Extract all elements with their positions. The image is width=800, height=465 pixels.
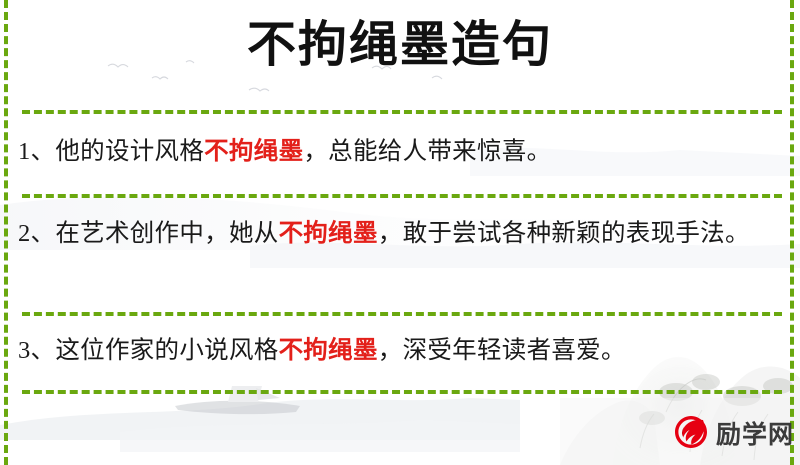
- sentence-text-after-2: ，敢于尝试各种新颖的表现手法。: [378, 220, 750, 247]
- sentence-item-3: 3、这位作家的小说风格不拘绳墨，深受年轻读者喜爱。: [18, 330, 784, 371]
- highlight-term-2: 不拘绳墨: [279, 220, 378, 247]
- divider-top: [22, 110, 782, 114]
- divider-bottom: [22, 390, 782, 394]
- watermark-brand-text: 励学网: [716, 415, 794, 451]
- page-title: 不拘绳墨造句: [0, 16, 800, 74]
- sentence-text-after-3: ，深受年轻读者喜爱。: [378, 337, 626, 364]
- sentence-number-1: 1、: [18, 138, 55, 165]
- watermark-logo: 励学网: [672, 414, 794, 452]
- highlight-term-1: 不拘绳墨: [204, 138, 303, 165]
- divider-between-1-2: [22, 194, 782, 198]
- sentence-item-2: 2、在艺术创作中，她从不拘绳墨，敢于尝试各种新颖的表现手法。: [18, 213, 784, 254]
- slide-page: 不拘绳墨造句 1、他的设计风格不拘绳墨，总能给人带来惊喜。 2、在艺术创作中，她…: [0, 0, 800, 465]
- sentence-item-1: 1、他的设计风格不拘绳墨，总能给人带来惊喜。: [18, 131, 784, 172]
- highlight-term-3: 不拘绳墨: [279, 337, 378, 364]
- sentence-text-after-1: ，总能给人带来惊喜。: [303, 138, 551, 165]
- sentence-text-before-3: 这位作家的小说风格: [55, 337, 278, 364]
- sentence-number-2: 2、: [18, 220, 55, 247]
- sentence-text-before-1: 他的设计风格: [55, 138, 204, 165]
- sentence-number-3: 3、: [18, 337, 55, 364]
- content-area: 不拘绳墨造句 1、他的设计风格不拘绳墨，总能给人带来惊喜。 2、在艺术创作中，她…: [0, 0, 800, 465]
- flame-swirl-icon: [672, 414, 710, 452]
- sentence-text-before-2: 在艺术创作中，她从: [55, 220, 278, 247]
- divider-between-2-3: [22, 312, 782, 316]
